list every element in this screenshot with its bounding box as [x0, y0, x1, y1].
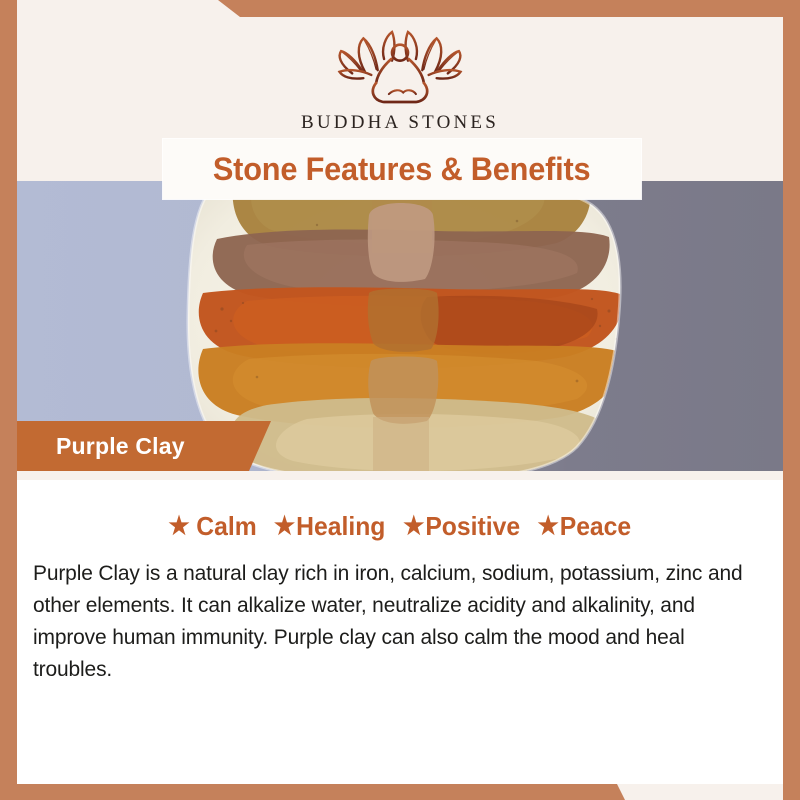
page-title: Stone Features & Benefits	[213, 151, 591, 188]
benefit-keyword-positive: ★ Positive	[403, 511, 520, 542]
benefit-keyword-label: Calm	[196, 511, 256, 542]
star-icon: ★	[403, 514, 424, 539]
star-icon: ★	[168, 514, 189, 539]
panel-top-divider	[17, 471, 783, 480]
benefit-keyword-healing: ★ Healing	[274, 511, 385, 542]
star-icon: ★	[538, 514, 559, 539]
star-icon: ★	[274, 514, 295, 539]
brand-wordmark: BUDDHA STONES	[301, 112, 499, 134]
benefit-keyword-label: Positive	[426, 511, 521, 542]
benefit-keyword-row: ★ Calm ★ Healing ★ Positive ★ Peace	[17, 511, 783, 542]
stone-name-label: Purple Clay	[17, 433, 185, 460]
frame-band-right	[783, 0, 800, 800]
benefit-keyword-calm: ★ Calm	[168, 511, 256, 542]
benefit-keyword-peace: ★ Peace	[538, 511, 632, 542]
stone-name-badge: Purple Clay	[17, 421, 271, 471]
lotus-meditation-figure-icon	[320, 24, 480, 110]
content-panel: ★ Calm ★ Healing ★ Positive ★ Peace Purp…	[17, 471, 783, 784]
brand-logo: BUDDHA STONES	[17, 24, 783, 154]
title-banner: Stone Features & Benefits	[163, 139, 641, 199]
benefit-keyword-label: Peace	[560, 511, 631, 542]
inner-plate: BUDDHA STONES	[17, 17, 783, 784]
frame-band-top	[210, 0, 800, 17]
frame-band-left	[0, 0, 17, 800]
stone-description: Purple Clay is a natural clay rich in ir…	[33, 557, 743, 685]
frame-band-bottom	[0, 784, 625, 800]
benefit-keyword-label: Healing	[296, 511, 385, 542]
poster-root: BUDDHA STONES	[0, 0, 800, 800]
